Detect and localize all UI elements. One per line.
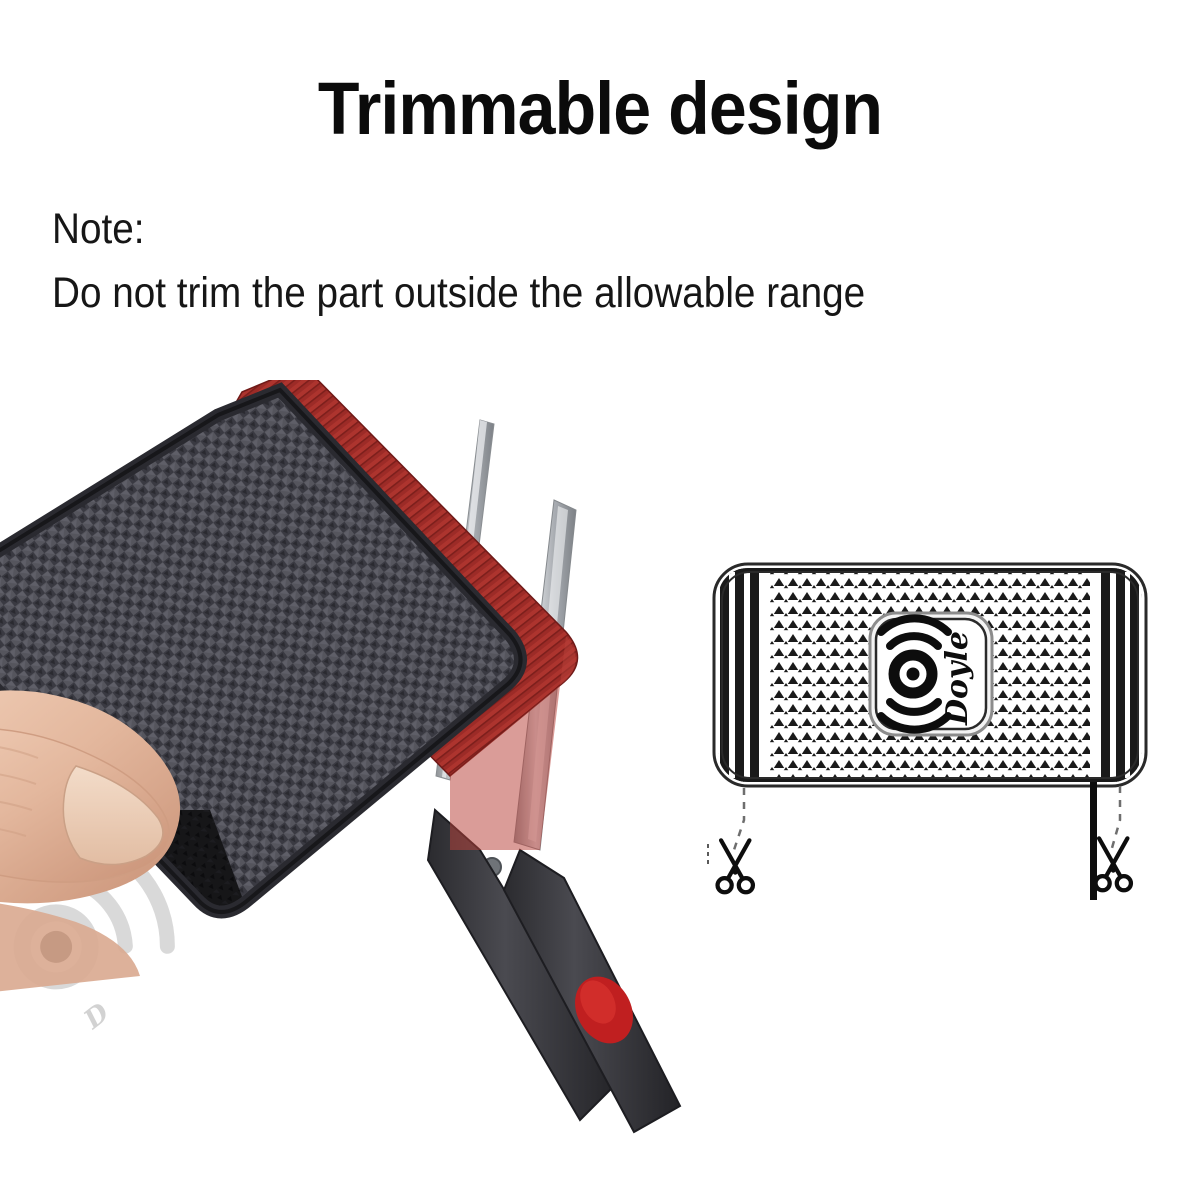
svg-text:Doyle: Doyle [940,631,975,726]
badge-script-logo: Doyle [940,631,975,726]
trimming-demonstration-photo: D [0,380,760,1140]
stripe-zone-right [1090,568,1145,782]
trim-guide-diagram: Doyle [660,520,1200,920]
page-title: Trimmable design [48,72,1152,146]
note-text: Do not trim the part outside the allowab… [52,272,865,315]
note-label: Note: [52,208,145,251]
photo-description: Hand holding a textured anti-slip car da… [0,0,1,1]
wireless-badge: Doyle [870,613,992,735]
diagram-mat-label: anti-slip mat top view [0,0,1,1]
page-root: Trimmable design Note: Do not trim the p… [0,0,1200,1200]
